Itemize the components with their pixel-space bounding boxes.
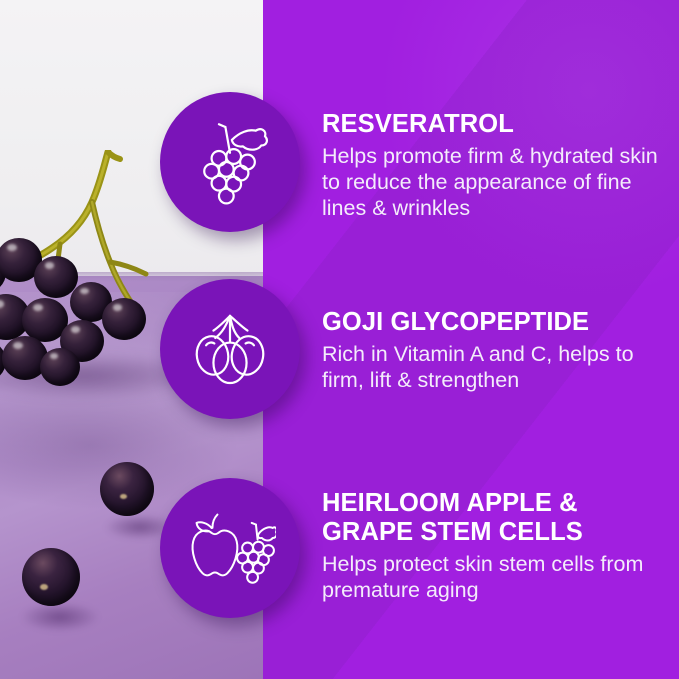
feature-text-stem-cells: HEIRLOOM APPLE & GRAPE STEM CELLS Helps … bbox=[322, 489, 670, 603]
feature-text-goji: GOJI GLYCOPEPTIDE Rich in Vitamin A and … bbox=[322, 308, 670, 393]
infographic-panel: RESVERATROL Helps promote firm & hydrate… bbox=[0, 0, 679, 679]
feature-title: GOJI GLYCOPEPTIDE bbox=[322, 308, 670, 337]
feature-title: RESVERATROL bbox=[322, 110, 670, 139]
feature-body: Helps promote firm & hydrated skin to re… bbox=[322, 143, 670, 221]
feature-body: Helps protect skin stem cells from prema… bbox=[322, 551, 670, 603]
apple-and-grapes-icon bbox=[184, 502, 276, 594]
goji-berries-icon-badge bbox=[160, 279, 300, 419]
apple-and-grapes-icon-badge bbox=[160, 478, 300, 618]
loose-berry-2-shadow bbox=[20, 602, 100, 632]
grape-cluster bbox=[0, 236, 164, 386]
grapes-icon-badge bbox=[160, 92, 300, 232]
loose-berry-1 bbox=[100, 462, 154, 516]
grapes-icon bbox=[184, 116, 276, 208]
feature-title: HEIRLOOM APPLE & GRAPE STEM CELLS bbox=[322, 489, 670, 547]
feature-text-resveratrol: RESVERATROL Helps promote firm & hydrate… bbox=[322, 110, 670, 221]
feature-body: Rich in Vitamin A and C, helps to firm, … bbox=[322, 341, 670, 393]
loose-berry-2 bbox=[22, 548, 80, 606]
goji-berries-icon bbox=[184, 303, 276, 395]
